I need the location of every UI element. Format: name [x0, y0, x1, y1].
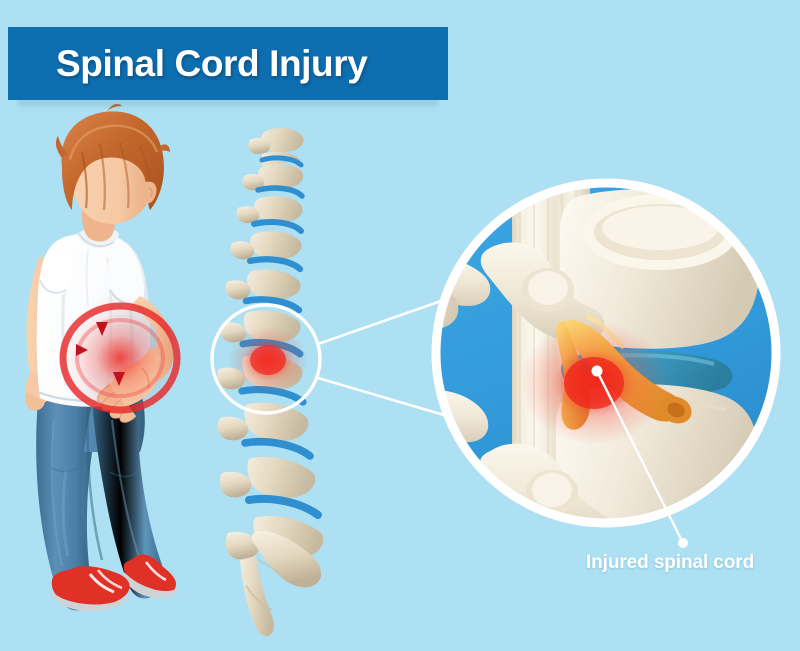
- page-title: Spinal Cord Injury: [8, 43, 367, 85]
- pain-indicator: [58, 296, 182, 420]
- injury-glow: [520, 321, 668, 445]
- callout-label-injured-spinal-cord: Injured spinal cord: [586, 552, 754, 574]
- spinal-cord-injury-infographic: Spinal Cord Injury Injured spinal cord: [0, 0, 800, 651]
- banner-shadow: [18, 100, 438, 109]
- title-banner: Spinal Cord Injury: [8, 27, 448, 100]
- spine-injury-glow: [228, 326, 308, 394]
